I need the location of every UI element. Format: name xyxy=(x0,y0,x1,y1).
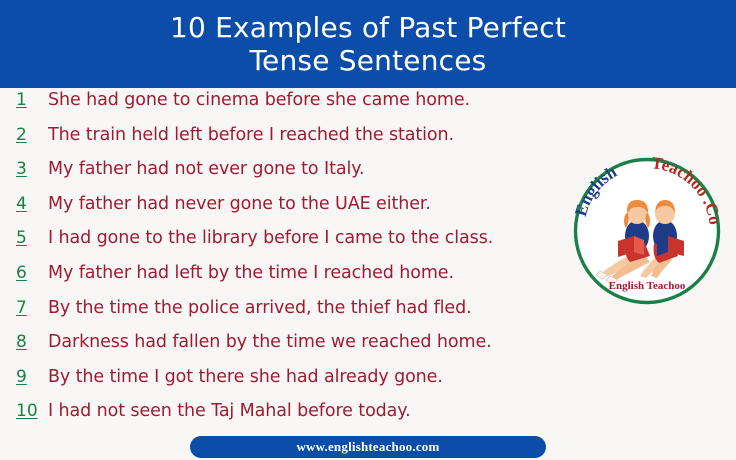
list-item-text: My father had left by the time I reached… xyxy=(48,263,454,283)
list-item-number: 6 xyxy=(12,263,48,283)
list-item-text: I had gone to the library before I came … xyxy=(48,228,493,248)
list-item-text: By the time the police arrived, the thie… xyxy=(48,298,472,318)
list-item-text: Darkness had fallen by the time we reach… xyxy=(48,332,492,352)
logo-caption: English Teachoo xyxy=(609,280,686,292)
list-item-text: She had gone to cinema before she came h… xyxy=(48,90,470,110)
page-title-line-1: 10 Examples of Past Perfect xyxy=(170,11,566,44)
list-item-number: 8 xyxy=(12,332,48,352)
list-item-text: My father had not ever gone to Italy. xyxy=(48,159,364,179)
list-item-number: 5 xyxy=(12,228,48,248)
header-banner: 10 Examples of Past Perfect Tense Senten… xyxy=(0,0,736,88)
list-item-number: 7 xyxy=(12,298,48,318)
list-item-text: By the time I got there she had already … xyxy=(48,367,443,387)
list-item: 10 I had not seen the Taj Mahal before t… xyxy=(0,401,736,436)
page-title-line-2: Tense Sentences xyxy=(250,44,487,77)
poster-canvas: 10 Examples of Past Perfect Tense Senten… xyxy=(0,0,736,460)
list-item-number: 4 xyxy=(12,194,48,214)
list-item-text: My father had never gone to the UAE eith… xyxy=(48,194,431,214)
list-item: 8 Darkness had fallen by the time we rea… xyxy=(0,332,736,367)
logo-svg: English Teachoo .Com xyxy=(572,156,722,306)
list-item: 1 She had gone to cinema before she came… xyxy=(0,90,736,125)
list-item-text: I had not seen the Taj Mahal before toda… xyxy=(48,401,411,421)
list-item-text: The train held left before I reached the… xyxy=(48,125,454,145)
list-item: 2 The train held left before I reached t… xyxy=(0,125,736,160)
list-item-number: 10 xyxy=(12,401,48,421)
list-item: 9 By the time I got there she had alread… xyxy=(0,367,736,402)
footer-url-pill[interactable]: www.englishteachoo.com xyxy=(190,436,546,458)
english-teachoo-logo: English Teachoo .Com xyxy=(572,156,722,306)
list-item-number: 1 xyxy=(12,90,48,110)
list-item-number: 9 xyxy=(12,367,48,387)
footer-url-text: www.englishteachoo.com xyxy=(296,439,439,455)
list-item-number: 2 xyxy=(12,125,48,145)
list-item-number: 3 xyxy=(12,159,48,179)
